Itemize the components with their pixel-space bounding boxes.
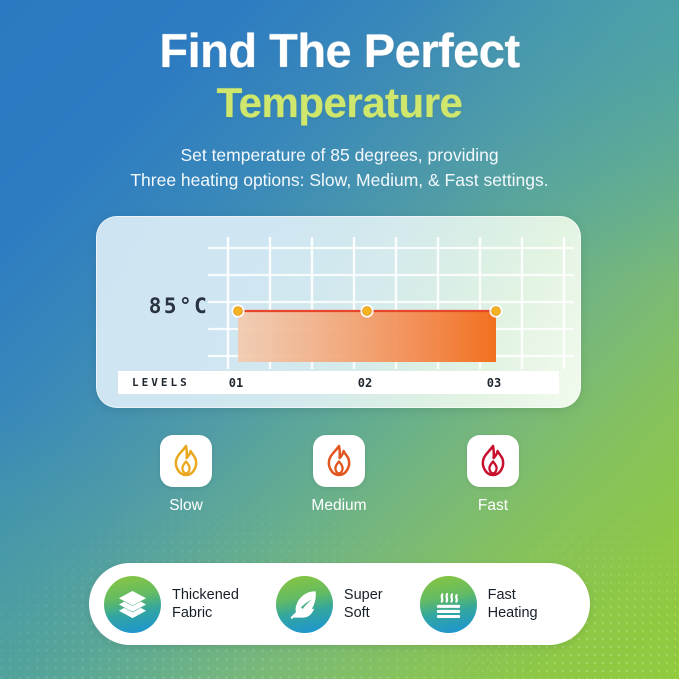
feature-label: Fast Heating: [488, 586, 538, 622]
feature-icon-circle: [104, 576, 161, 633]
subtitle-line2: Three heating options: Slow, Medium, & F…: [0, 168, 679, 193]
feature-fast-heating[interactable]: Fast Heating: [420, 576, 538, 633]
heat-option-medium[interactable]: Medium: [279, 435, 399, 515]
levels-axis-label: LEVELS: [132, 376, 190, 389]
level-tick-01: 01: [229, 376, 243, 390]
chart-levels-axis: LEVELS 01 02 03: [118, 371, 559, 394]
feature-bar: Thickened Fabric Super Soft: [89, 563, 590, 645]
subtitle-line1: Set temperature of 85 degrees, providing: [0, 143, 679, 168]
level-tick-03: 03: [487, 376, 501, 390]
heat-option-fast-label: Fast: [433, 497, 553, 515]
flame-icon: [323, 444, 355, 478]
heat-option-medium-label: Medium: [279, 497, 399, 515]
feature-super-soft[interactable]: Super Soft: [276, 576, 383, 633]
page-title-line1: Find The Perfect: [0, 27, 679, 74]
heat-option-medium-tile[interactable]: [313, 435, 365, 487]
feather-icon: [288, 588, 321, 621]
feature-thickened-fabric[interactable]: Thickened Fabric: [104, 576, 239, 633]
flame-icon: [170, 444, 202, 478]
level-tick-02: 02: [358, 376, 372, 390]
heat-option-slow-tile[interactable]: [160, 435, 212, 487]
chart-data-points: [208, 237, 574, 369]
heat-option-slow-label: Slow: [126, 497, 246, 515]
heat-option-fast[interactable]: Fast: [433, 435, 553, 515]
feature-label: Super Soft: [344, 586, 383, 622]
heat-options-row: Slow Medium Fast: [96, 435, 581, 530]
feature-icon-circle: [276, 576, 333, 633]
chart-plot-area: [208, 237, 574, 369]
flame-icon: [477, 444, 509, 478]
temperature-chart-card: 85°C: [96, 216, 581, 408]
feature-label: Thickened Fabric: [172, 586, 239, 622]
layers-icon: [116, 589, 149, 620]
subtitle: Set temperature of 85 degrees, providing…: [0, 143, 679, 193]
heat-waves-icon: [432, 588, 465, 621]
heat-option-fast-tile[interactable]: [467, 435, 519, 487]
header: Find The Perfect Temperature Set tempera…: [0, 0, 679, 193]
page-title-line2: Temperature: [0, 82, 679, 124]
heat-option-slow[interactable]: Slow: [126, 435, 246, 515]
feature-icon-circle: [420, 576, 477, 633]
